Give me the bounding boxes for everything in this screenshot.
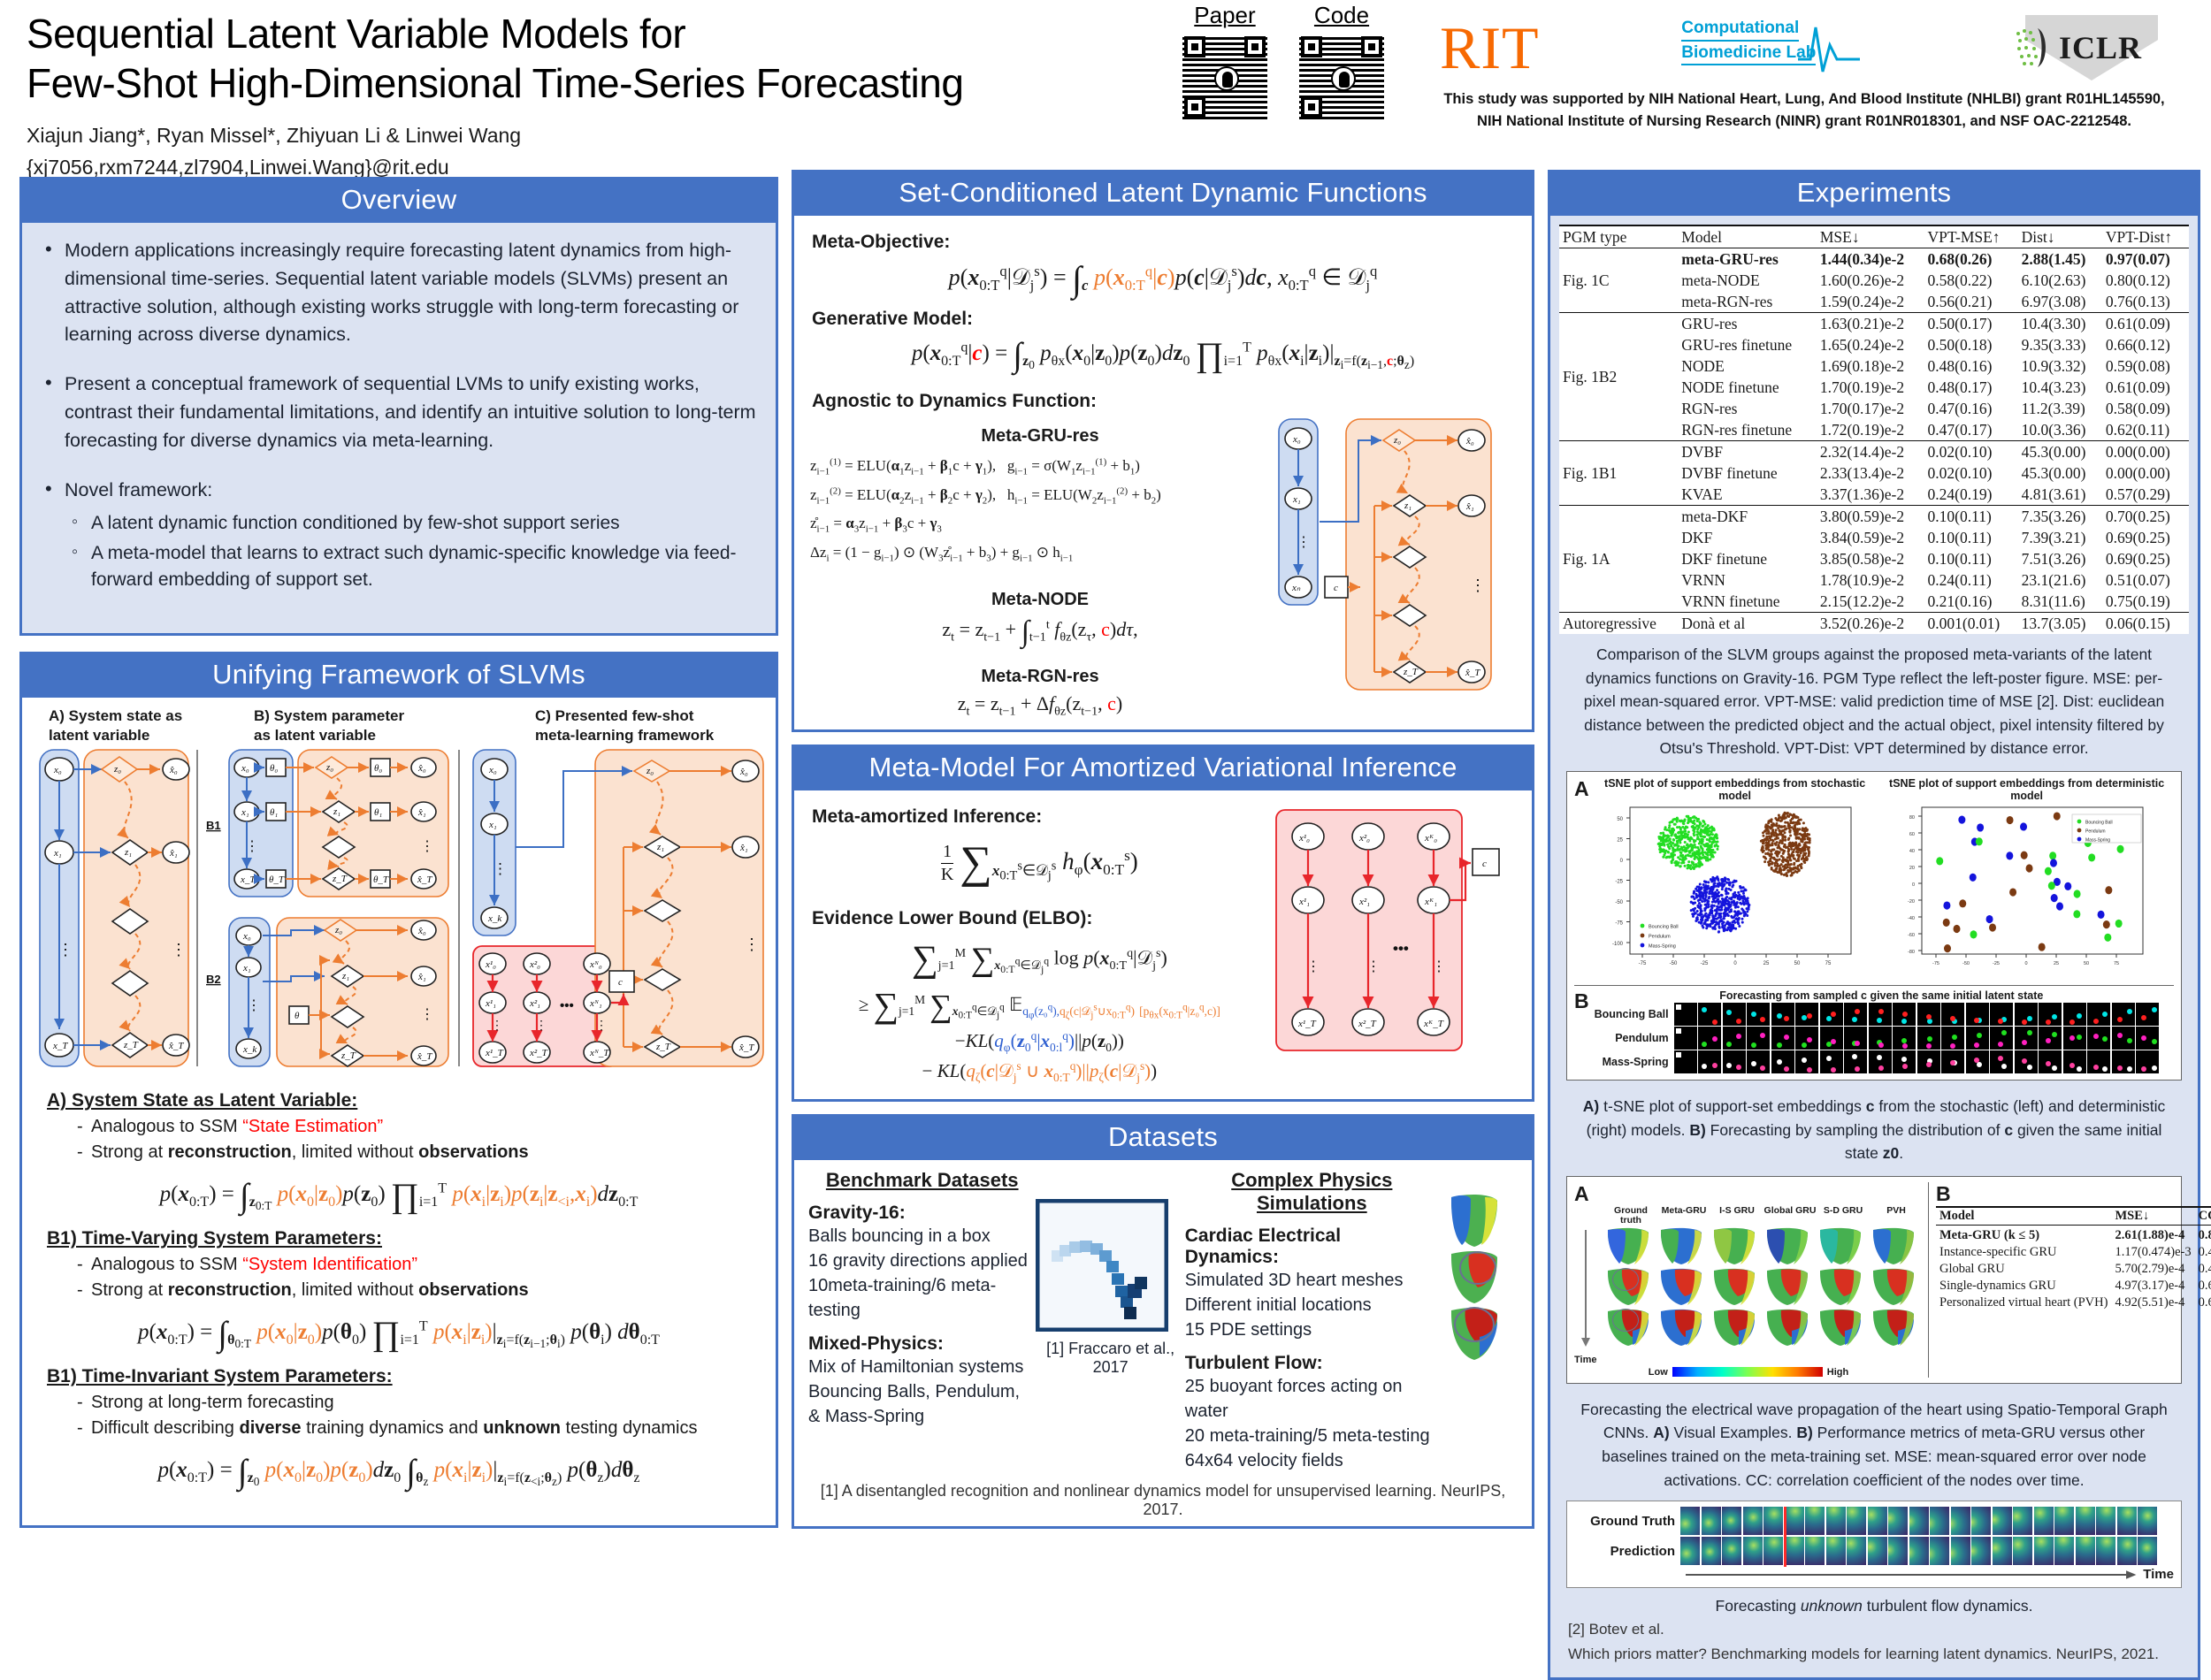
framework-caption-c: C) Presented few-shotmeta-learning frame… <box>501 706 758 745</box>
benchmark-datasets-heading: Benchmark Datasets <box>808 1169 1036 1192</box>
turbulent-frame <box>1826 1507 1846 1535</box>
svg-text:xᴺ_T: xᴺ_T <box>589 1048 609 1058</box>
dist-cell: 7.39(3.21) <box>2018 527 2102 548</box>
filmstrip-frame <box>1893 1050 1916 1073</box>
dist-cell: 7.51(3.26) <box>2018 548 2102 569</box>
gravity-line-1: Balls bouncing in a box <box>808 1224 1036 1249</box>
filmstrip-frame <box>1917 1050 1940 1073</box>
svg-text:z₀: z₀ <box>334 925 342 935</box>
filmstrip-frame <box>1844 1027 1867 1050</box>
turbulent-caption: Forecasting unknown turbulent flow dynam… <box>1559 1592 2189 1617</box>
filmstrip-frame <box>1917 1003 1940 1026</box>
generative-model-equation: p(x0:Tq|c) = ∫z0 pθx(x0|z0)p(z0)dz0 ∏i=1… <box>810 335 1516 375</box>
svg-text:-25: -25 <box>1700 961 1708 966</box>
svg-text:Mass-Spring: Mass-Spring <box>2085 837 2110 843</box>
svg-text:x_k: x_k <box>242 1044 257 1055</box>
turbulent-frame <box>1993 1507 2012 1535</box>
svg-text:⋮: ⋮ <box>420 1007 434 1022</box>
filmstrip-frame <box>1747 1050 1770 1073</box>
svg-text:⋮: ⋮ <box>493 860 508 877</box>
filmstrip-frame <box>1820 1050 1843 1073</box>
model-cell: NODE <box>1678 355 1817 377</box>
bottom-reference-1: [2] Botev et al. <box>1559 1617 2189 1642</box>
vpt-mse-cell: 0.001(0.01) <box>1924 613 2018 635</box>
filmstrip-frame <box>1674 1027 1697 1050</box>
heart-column-header: Meta-GRU <box>1657 1206 1710 1226</box>
svg-text:x¹_T: x¹_T <box>485 1048 504 1058</box>
turbulent-frame <box>2054 1537 2074 1565</box>
filmstrip-frame <box>1723 1027 1746 1050</box>
heart-mse-cell: 1.17(0.474)e-3 <box>2111 1244 2194 1261</box>
filmstrip-frame <box>1941 1003 1964 1026</box>
svg-text:x̂_T: x̂_T <box>738 1042 754 1053</box>
svg-text:-25: -25 <box>1993 961 2000 966</box>
meta-amortized-label: Meta-amortized Inference: <box>812 806 1269 828</box>
meta-node-label: Meta-NODE <box>810 590 1270 610</box>
vpt-mse-cell: 0.50(0.17) <box>1924 313 2018 335</box>
turbulent-frame <box>2054 1507 2074 1535</box>
svg-text:⋮: ⋮ <box>1306 959 1320 974</box>
model-cell: NODE finetune <box>1678 377 1817 398</box>
svg-text:z₁: z₁ <box>341 971 349 981</box>
svg-text:z_T: z_T <box>655 1042 671 1052</box>
section-b2-title: B1) Time-Invariant System Parameters: <box>47 1366 751 1387</box>
svg-text:-75: -75 <box>1932 961 1939 966</box>
filmstrip-frame <box>1966 1003 1989 1026</box>
filmstrip-frame <box>2087 1050 2110 1073</box>
turbulent-frame <box>1763 1537 1783 1565</box>
model-cell: meta-RGN-res <box>1678 291 1817 313</box>
vpt-mse-cell: 0.02(0.10) <box>1924 462 2018 484</box>
vpt-dist-cell: 0.51(0.07) <box>2102 569 2189 591</box>
tsne-caption: A) t-SNE plot of support-set embeddings … <box>1559 1086 2189 1171</box>
datasets-footnote: [1] A disentangled recognition and nonli… <box>808 1482 1518 1519</box>
datasets-panel: Datasets Benchmark Datasets Gravity-16: … <box>792 1114 1534 1529</box>
svg-text:40: 40 <box>1909 849 1915 854</box>
vpt-mse-cell: 0.10(0.11) <box>1924 527 2018 548</box>
filmstrip-frame <box>1869 1027 1892 1050</box>
filmstrip-frame <box>2063 1003 2086 1026</box>
pgm-type-cell: Fig. 1B1 <box>1559 441 1678 506</box>
heart-mesh-cell <box>1601 1308 1654 1348</box>
dist-cell: 6.97(3.08) <box>2018 291 2102 313</box>
turbulent-time-arrow-icon <box>1686 1568 2139 1582</box>
overview-sub-1: A latent dynamic function conditioned by… <box>65 510 758 537</box>
turbulent-frame <box>1743 1537 1763 1565</box>
filmstrip-row: Mass-Spring <box>1589 1050 2174 1073</box>
svg-text:c: c <box>1334 583 1338 593</box>
filmstrip-frame <box>2112 1003 2135 1026</box>
heart-mse-cell: 2.61(1.88)e-4 <box>2111 1225 2194 1244</box>
mse-cell: 1.60(0.26)e-2 <box>1817 270 1924 291</box>
turbulent-title: Turbulent Flow: <box>1185 1353 1439 1374</box>
framework-panel: Unifying Framework of SLVMs A) System st… <box>19 652 778 1529</box>
col-vpt-dist: VPT-Dist↑ <box>2102 225 2189 248</box>
dist-cell: 9.35(3.33) <box>2018 334 2102 355</box>
turbulent-row <box>1680 1507 2174 1537</box>
svg-text:0: 0 <box>2024 961 2027 966</box>
svg-text:x¹_T: x¹_T <box>1297 1019 1317 1029</box>
section-b2-item-1: Strong at long-term forecasting <box>77 1390 751 1416</box>
vpt-mse-cell: 0.48(0.16) <box>1924 355 2018 377</box>
pgm-type-cell: Autoregressive <box>1559 613 1678 635</box>
heart-mesh-row <box>1601 1308 1923 1348</box>
turbulent-line-1: 25 buoyant forces acting on water <box>1185 1374 1439 1424</box>
dist-cell: 7.35(3.26) <box>2018 506 2102 528</box>
turbulent-frame <box>2034 1537 2054 1565</box>
right-column: Experiments PGM type Model MSE↓ VPT-MSE↑… <box>1548 170 2200 1680</box>
svg-text:-75: -75 <box>1615 920 1623 926</box>
filmstrip-frame <box>2039 1027 2062 1050</box>
mse-cell: 1.78(10.9)e-2 <box>1817 569 1924 591</box>
model-cell: RGN-res finetune <box>1678 419 1817 441</box>
svg-text:⋮: ⋮ <box>1470 577 1486 594</box>
heart-mesh-cell <box>1654 1308 1707 1348</box>
turbulent-frame <box>1680 1507 1700 1535</box>
turbulent-frame <box>1888 1537 1908 1565</box>
filmstrip-frame <box>1917 1027 1940 1050</box>
svg-text:x₀: x₀ <box>241 763 249 774</box>
turbulent-frame <box>1971 1507 1991 1535</box>
svg-text:•••: ••• <box>560 998 574 1013</box>
svg-text:θ₁: θ₁ <box>270 807 278 818</box>
svg-text:25: 25 <box>1617 837 1623 843</box>
overview-sub-2: A meta-model that learns to extract such… <box>65 540 758 594</box>
svg-text:60: 60 <box>1909 832 1915 837</box>
mse-cell: 1.59(0.24)e-2 <box>1817 291 1924 313</box>
gravity-line-2: 16 gravity directions applied <box>808 1249 1036 1273</box>
tsne-panel-a-letter: A <box>1574 777 1589 801</box>
svg-text:x₁: x₁ <box>53 848 62 859</box>
experiments-panel: Experiments PGM type Model MSE↓ VPT-MSE↑… <box>1548 170 2200 1680</box>
pgm-type-cell: Fig. 1A <box>1559 506 1678 613</box>
svg-text:z₀: z₀ <box>646 766 654 776</box>
meta-gru-res-label: Meta-GRU-res <box>810 426 1270 447</box>
mse-cell: 3.37(1.36)e-2 <box>1817 484 1924 506</box>
svg-text:x¹₁: x¹₁ <box>485 998 496 1009</box>
filmstrip-frame <box>1795 1050 1818 1073</box>
svg-text:⋮: ⋮ <box>171 941 187 958</box>
svg-text:xᴺ₁: xᴺ₁ <box>589 998 602 1009</box>
turbulent-row-2-label: Prediction <box>1574 1537 1680 1567</box>
framework-diagram: x₀ x₁ x_T z₀ z₁ z_T x̂₀ <box>33 745 769 1073</box>
filmstrip-frame <box>1966 1050 1989 1073</box>
vpt-mse-cell: 0.47(0.17) <box>1924 419 2018 441</box>
dist-cell: 11.2(3.39) <box>2018 398 2102 419</box>
filmstrip-frame <box>1747 1003 1770 1026</box>
svg-text:⋮: ⋮ <box>1297 535 1311 550</box>
heart-caption: Forecasting the electrical wave propagat… <box>1559 1389 2189 1497</box>
mse-cell: 2.15(12.2)e-2 <box>1817 591 1924 613</box>
turbulent-frame <box>1951 1507 1970 1535</box>
mse-cell: 2.33(13.4)e-2 <box>1817 462 1924 484</box>
filmstrip-frame <box>1844 1050 1867 1073</box>
section-b1-title: B1) Time-Varying System Parameters: <box>47 1228 751 1249</box>
code-qr-item[interactable]: Code <box>1297 2 1386 121</box>
poster-header: Sequential Latent Variable Models for Fe… <box>0 0 2211 173</box>
heart-mesh-grid <box>1601 1226 1923 1365</box>
turbulent-frame <box>1785 1507 1804 1535</box>
section-a-item-1: Analogous to SSM “State Estimation” <box>77 1114 751 1140</box>
heart-time-label: Time <box>1574 1355 1601 1365</box>
svg-text:-80: -80 <box>1908 950 1915 955</box>
dist-cell: 45.3(0.00) <box>2018 441 2102 463</box>
heart-mesh-cell <box>1813 1308 1866 1348</box>
mse-cell: 1.44(0.34)e-2 <box>1817 248 1924 271</box>
table-row: Global GRU5.70(2.79)e-40.43(0.20) <box>1936 1261 2211 1278</box>
vpt-mse-cell: 0.50(0.18) <box>1924 334 2018 355</box>
dist-cell: 45.3(0.00) <box>2018 462 2102 484</box>
paper-qr-label: Paper <box>1181 2 1269 29</box>
svg-text:x₁: x₁ <box>241 807 249 818</box>
filmstrip-frame <box>1990 1003 2013 1026</box>
meta-model-panel: Meta-Model For Amortized Variational Inf… <box>792 745 1534 1101</box>
pgm-type-cell: Fig. 1B2 <box>1559 313 1678 441</box>
heart-mesh-cell <box>1707 1308 1760 1348</box>
datasets-heading: Datasets <box>794 1117 1532 1160</box>
svg-text:θ₀: θ₀ <box>270 763 278 774</box>
dist-cell: 8.31(11.6) <box>2018 591 2102 613</box>
meta-objective-label: Meta-Objective: <box>812 232 1516 253</box>
vpt-dist-cell: 0.00(0.00) <box>2102 441 2189 463</box>
table-row: Fig. 1Cmeta-GRU-res1.44(0.34)e-20.68(0.2… <box>1559 248 2189 271</box>
funding-line-1: This study was supported by NIH National… <box>1442 88 2167 111</box>
filmstrip-frame <box>2136 1003 2159 1026</box>
svg-text:x¹₁: x¹₁ <box>1298 897 1310 907</box>
set-conditioned-mini-diagram: x₀ x₁ xₙ ⋮ z₀ z₁ z_T <box>1270 414 1500 697</box>
svg-text:-25: -25 <box>1615 879 1623 884</box>
filmstrip-frame <box>1698 1027 1721 1050</box>
table-header-row: PGM type Model MSE↓ VPT-MSE↑ Dist↓ VPT-D… <box>1559 225 2189 248</box>
cardiac-line-2: Different initial locations <box>1185 1293 1439 1317</box>
heart-cc-cell: 0.64(0.28) <box>2195 1278 2211 1294</box>
paper-qr-icon[interactable] <box>1181 33 1269 121</box>
filmstrip-frame <box>1723 1050 1746 1073</box>
filmstrip-frame <box>1674 1050 1697 1073</box>
filmstrip-frame <box>2015 1003 2038 1026</box>
overview-panel: Overview Modern applications increasingl… <box>19 177 778 636</box>
svg-text:θ₁: θ₁ <box>374 807 382 818</box>
svg-text:x₀: x₀ <box>488 765 497 775</box>
filmstrip-frame <box>1869 1003 1892 1026</box>
turbulent-frame <box>1847 1537 1866 1565</box>
heart-model-cell: Personalized virtual heart (PVH) <box>1936 1294 2111 1311</box>
elbo-label: Evidence Lower Bound (ELBO): <box>812 908 1269 929</box>
filmstrip-frame <box>1723 1003 1746 1026</box>
filmstrip-frame <box>1795 1027 1818 1050</box>
turbulent-frame <box>1909 1507 1929 1535</box>
heart-column-header: Ground truth <box>1604 1206 1657 1226</box>
svg-text:z_T: z_T <box>123 1040 139 1050</box>
svg-text:-75: -75 <box>1638 961 1646 966</box>
meta-objective-equation: p(x0:Tq|𝒟js) = ∫c p(x0:Tq|c)p(c|𝒟js)dc, … <box>810 258 1516 300</box>
filmstrip-frame <box>2136 1050 2159 1073</box>
svg-text:50: 50 <box>1794 961 1800 966</box>
iclr-wordmark: ICLR <box>2059 29 2142 66</box>
title-line-1: Sequential Latent Variable Models for <box>27 11 685 57</box>
turbulent-frame <box>2138 1507 2157 1535</box>
heart-column-headers: Ground truthMeta-GRUI-S GRUGlobal GRUS-D… <box>1604 1206 1923 1226</box>
heart-mesh-cell <box>1760 1308 1813 1348</box>
vpt-dist-cell: 0.66(0.12) <box>2102 334 2189 355</box>
vpt-mse-cell: 0.68(0.26) <box>1924 248 2018 271</box>
section-b1-item-2: Strong at reconstruction, limited withou… <box>77 1278 751 1303</box>
model-cell: GRU-res finetune <box>1678 334 1817 355</box>
svg-text:x¹₀: x¹₀ <box>485 959 496 970</box>
dist-cell: 13.7(3.05) <box>2018 613 2102 635</box>
svg-text:25: 25 <box>1763 961 1769 966</box>
gravity-title: Gravity-16: <box>808 1203 1036 1224</box>
svg-text:-60: -60 <box>1908 933 1915 938</box>
model-cell: meta-DKF <box>1678 506 1817 528</box>
filmstrip-frame <box>1820 1027 1843 1050</box>
highlight-ellipse <box>1612 1268 1639 1291</box>
turbulent-figure: Ground Truth Prediction Time <box>1566 1501 2182 1588</box>
turbulent-frame <box>1785 1537 1804 1565</box>
dist-cell: 6.10(2.63) <box>2018 270 2102 291</box>
turbulent-frame <box>1930 1507 1949 1535</box>
table-row: Meta-GRU (k ≤ 5)2.61(1.88)e-40.81(0.13) <box>1936 1225 2211 1244</box>
turbulent-frame <box>2096 1507 2115 1535</box>
section-b1-item-1: Analogous to SSM “System Identification” <box>77 1252 751 1278</box>
elbo-equation-line2: ≥ ∑j=1M ∑x0:Tq∈𝒟jq 𝔼qφ(z₀q),qζ(c|𝒟js∪x0:… <box>810 984 1269 1026</box>
meta-rgn-equation: zt = zt−1 + Δfθz(zt−1, c) <box>810 692 1270 719</box>
model-cell: KVAE <box>1678 484 1817 506</box>
vpt-mse-cell: 0.02(0.10) <box>1924 441 2018 463</box>
filmstrip-frame <box>1795 1003 1818 1026</box>
filmstrip-frame <box>2015 1027 2038 1050</box>
svg-text:x₀: x₀ <box>1292 434 1301 445</box>
svg-text:x₀: x₀ <box>53 765 62 775</box>
turbulent-frame <box>1743 1507 1763 1535</box>
turbulent-frame <box>1826 1537 1846 1565</box>
svg-text:x²₁: x²₁ <box>529 998 540 1009</box>
heart-mesh-cell <box>1813 1226 1866 1267</box>
heart-cc-cell: 0.81(0.13) <box>2195 1225 2211 1244</box>
mse-cell: 1.70(0.17)e-2 <box>1817 398 1924 419</box>
turbulent-frame <box>1993 1537 2012 1565</box>
svg-text:x̂₁: x̂₁ <box>417 807 426 818</box>
vpt-mse-cell: 0.48(0.17) <box>1924 377 2018 398</box>
heart-model-cell: Single-dynamics GRU <box>1936 1278 2111 1294</box>
turbulent-frame <box>1868 1507 1887 1535</box>
svg-text:z_T: z_T <box>1403 667 1419 677</box>
code-qr-label: Code <box>1297 2 1386 29</box>
code-qr-icon[interactable] <box>1297 33 1386 121</box>
vpt-dist-cell: 0.61(0.09) <box>2102 377 2189 398</box>
svg-text:0: 0 <box>1619 859 1623 864</box>
forecast-sampled-c-title: Forecasting from sampled c given the sam… <box>1589 989 2174 1002</box>
svg-text:θ_T: θ_T <box>373 874 389 885</box>
svg-text:⋮: ⋮ <box>1366 959 1381 974</box>
svg-text:z₀: z₀ <box>325 762 333 773</box>
svg-text:-40: -40 <box>1908 916 1915 921</box>
tsne-deterministic-scatter: 806040200-20-40-60-80-75-50-250255075 Bo… <box>1881 802 2164 979</box>
dist-cell: 4.81(3.61) <box>2018 484 2102 506</box>
experiments-caption-text: Comparison of the SLVM groups against th… <box>1584 645 2165 757</box>
turbulent-frame <box>1763 1507 1783 1535</box>
svg-text:•••: ••• <box>1393 940 1409 957</box>
meta-gru-equations: zi−1(1) = ELU(α1zi−1 + β1c + γ1), gi−1 =… <box>810 452 1270 567</box>
elbo-equation-line4: − KL(qζ(c|𝒟js ∪ x0:Tq)||pζ(c|𝒟js)) <box>810 1059 1269 1085</box>
dist-cell: 2.88(1.45) <box>2018 248 2102 271</box>
heart-results-table: Model MSE↓ CC↑ Meta-GRU (k ≤ 5)2.61(1.88… <box>1936 1206 2211 1311</box>
mse-cell: 3.84(0.59)e-2 <box>1817 527 1924 548</box>
svg-text:⋮: ⋮ <box>491 1018 503 1032</box>
filmstrip-row: Pendulum <box>1589 1027 2174 1050</box>
turbulent-frame <box>1868 1537 1887 1565</box>
svg-text:⋮: ⋮ <box>247 998 261 1013</box>
brain-dots-icon <box>2013 25 2054 71</box>
mse-cell: 3.85(0.58)e-2 <box>1817 548 1924 569</box>
filmstrip-frame <box>2015 1050 2038 1073</box>
bouncing-ball-trajectory-image <box>1036 1199 1168 1332</box>
table-row: Instance-specific GRU1.17(0.474)e-30.43(… <box>1936 1244 2211 1261</box>
svg-text:x̂₁: x̂₁ <box>1465 501 1474 512</box>
svg-text:0: 0 <box>1733 961 1737 966</box>
heart-mesh-cell <box>1760 1267 1813 1308</box>
svg-text:-50: -50 <box>1669 961 1677 966</box>
turbulent-frame <box>1847 1507 1866 1535</box>
tsne-right-title: tSNE plot of support embeddings from det… <box>1881 777 2173 802</box>
svg-text:x̂₀: x̂₀ <box>1465 436 1474 447</box>
filmstrip-frame <box>1893 1003 1916 1026</box>
filmstrip-frame <box>1990 1050 2013 1073</box>
overview-bullet-1: Modern applications increasingly require… <box>38 237 758 349</box>
svg-text:75: 75 <box>2114 961 2119 966</box>
filmstrip-frame <box>1820 1003 1843 1026</box>
filmstrip-frame <box>1990 1027 2013 1050</box>
turbulent-frame <box>1805 1537 1825 1565</box>
title-line-2: Few-Shot High-Dimensional Time-Series Fo… <box>27 60 963 106</box>
svg-text:z₀: z₀ <box>113 764 121 775</box>
svg-text:z_T: z_T <box>340 1050 356 1061</box>
experiments-caption: Comparison of the SLVM groups against th… <box>1559 634 2189 766</box>
heart-column-header: Global GRU <box>1763 1206 1817 1226</box>
svg-text:75: 75 <box>1825 961 1831 966</box>
filmstrip-frame <box>1674 1003 1697 1026</box>
paper-qr-item[interactable]: Paper <box>1181 2 1269 121</box>
mixed-line-3: & Mass-Spring <box>808 1404 1036 1429</box>
filmstrip-row-label: Mass-Spring <box>1589 1056 1674 1068</box>
heart-model-cell: Global GRU <box>1936 1261 2111 1278</box>
heart-mesh-row <box>1601 1226 1923 1267</box>
col-mse: MSE↓ <box>1817 225 1924 248</box>
filmstrip-frame <box>1771 1003 1794 1026</box>
table-row: Fig. 1Ameta-DKF3.80(0.59)e-20.10(0.11)7.… <box>1559 506 2189 528</box>
svg-text:x̂₀: x̂₀ <box>739 767 748 777</box>
vpt-mse-cell: 0.10(0.11) <box>1924 506 2018 528</box>
filmstrip-frame <box>2112 1050 2135 1073</box>
vpt-mse-cell: 0.21(0.16) <box>1924 591 2018 613</box>
iclr-logo: ICLR <box>2001 15 2169 80</box>
vpt-mse-cell: 0.24(0.19) <box>1924 484 2018 506</box>
heart-column-header: I-S GRU <box>1710 1206 1763 1226</box>
set-conditioned-body: Meta-Objective: p(x0:Tq|𝒟js) = ∫c p(x0:T… <box>794 216 1532 729</box>
model-cell: DKF finetune <box>1678 548 1817 569</box>
elbo-equation-line3: −KL(qφ(z0q|x0:lq)||p(z0)) <box>810 1029 1269 1055</box>
overview-body: Modern applications increasingly require… <box>22 223 776 633</box>
overview-sub-list: A latent dynamic function conditioned by… <box>65 510 758 594</box>
svg-text:xₙ: xₙ <box>1291 583 1301 593</box>
heart-mesh-cell <box>1866 1226 1919 1267</box>
svg-text:x_k: x_k <box>487 913 502 924</box>
vpt-dist-cell: 0.58(0.09) <box>2102 398 2189 419</box>
heart-mesh-cell <box>1601 1267 1654 1308</box>
vpt-dist-cell: 0.57(0.29) <box>2102 484 2189 506</box>
vpt-mse-cell: 0.58(0.22) <box>1924 270 2018 291</box>
framework-heading: Unifying Framework of SLVMs <box>22 654 776 698</box>
